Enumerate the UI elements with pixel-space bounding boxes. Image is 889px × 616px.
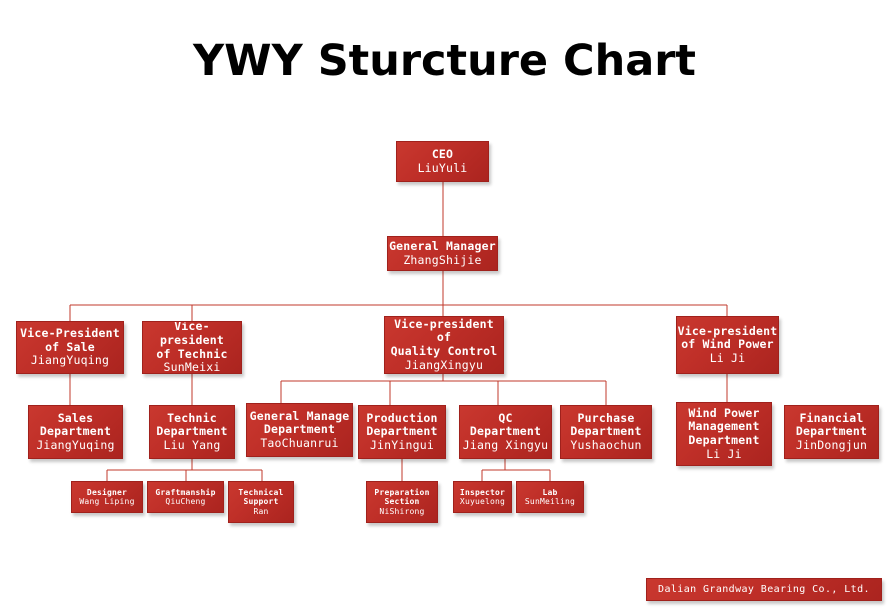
node-vp-wind-power[interactable]: Vice-president of Wind Power Li Ji <box>676 316 779 374</box>
node-lab-person: SunMeiling <box>525 497 575 506</box>
node-preparation-section-title-2: Section <box>384 497 419 506</box>
node-ceo-title: CEO <box>432 148 453 162</box>
node-vp-technic-person: SunMeixi <box>164 361 221 374</box>
node-sales-department-title-1: Sales <box>58 412 94 426</box>
node-technical-support-person: Ran <box>253 507 268 516</box>
node-graftmanship[interactable]: Graftmanship QiuCheng <box>147 481 224 513</box>
node-financial-department-title-1: Financial <box>799 412 863 426</box>
node-wind-power-management-department[interactable]: Wind Power Management Department Li Ji <box>676 402 772 466</box>
node-vp-technic-title-2: of Technic <box>156 348 227 362</box>
node-purchase-department-person: Yushaochun <box>570 439 641 453</box>
node-production-department-person: JinYingui <box>370 439 434 453</box>
node-general-manage-department-title-1: General Manage <box>250 410 350 424</box>
node-vp-technic-title-1: Vice-president <box>143 321 241 348</box>
node-vp-quality-control-title-1: Vice-president of <box>385 318 503 345</box>
node-technical-support-title-2: Support <box>243 497 278 506</box>
node-technic-department-title-1: Technic <box>167 412 217 426</box>
node-financial-department[interactable]: Financial Department JinDongjun <box>784 405 879 459</box>
node-preparation-section[interactable]: Preparation Section NiShirong <box>366 481 438 523</box>
node-graftmanship-person: QiuCheng <box>165 497 205 506</box>
company-footer-banner: Dalian Grandway Bearing Co., Ltd. <box>646 578 882 601</box>
org-chart-canvas: YWY Sturcture Chart <box>0 0 889 616</box>
node-sales-department-title-2: Department <box>40 425 111 439</box>
node-production-department-title-2: Department <box>366 425 437 439</box>
company-footer-label: Dalian Grandway Bearing Co., Ltd. <box>658 584 870 595</box>
node-vp-quality-control[interactable]: Vice-president of Quality Control JiangX… <box>384 316 504 374</box>
node-technic-department-person: Liu Yang <box>164 439 221 453</box>
node-ceo-person: LiuYuli <box>418 162 468 176</box>
node-wind-power-management-department-title-2: Management <box>688 420 759 434</box>
node-vp-quality-control-person: JiangXingyu <box>405 359 483 373</box>
node-qc-department-title-1: QC <box>498 412 512 426</box>
node-vp-quality-control-title-2: Quality Control <box>391 345 498 359</box>
node-qc-department-title-2: Department <box>470 425 541 439</box>
node-qc-department[interactable]: QC Department Jiang Xingyu <box>459 405 552 459</box>
node-qc-department-person: Jiang Xingyu <box>463 439 548 453</box>
node-purchase-department-title-1: Purchase <box>578 412 635 426</box>
node-production-department[interactable]: Production Department JinYingui <box>358 405 446 459</box>
node-general-manager-title: General Manager <box>389 240 496 254</box>
node-lab-title: Lab <box>542 488 557 497</box>
node-technical-support[interactable]: Technical Support Ran <box>228 481 294 523</box>
node-vp-wind-power-person: Li Ji <box>710 352 746 366</box>
node-vp-technic[interactable]: Vice-president of Technic SunMeixi <box>142 321 242 374</box>
node-graftmanship-title: Graftmanship <box>155 488 215 497</box>
node-purchase-department-title-2: Department <box>570 425 641 439</box>
node-ceo[interactable]: CEO LiuYuli <box>396 141 489 182</box>
node-purchase-department[interactable]: Purchase Department Yushaochun <box>560 405 652 459</box>
page-title: YWY Sturcture Chart <box>0 36 889 86</box>
node-inspector-person: Xuyuelong <box>460 497 505 506</box>
node-wind-power-management-department-person: Li Ji <box>706 448 742 462</box>
node-production-department-title-1: Production <box>366 412 437 426</box>
node-designer-title: Designer <box>87 488 127 497</box>
node-wind-power-management-department-title-1: Wind Power <box>688 407 759 421</box>
node-preparation-section-title-1: Preparation <box>374 488 429 497</box>
node-preparation-section-person: NiShirong <box>379 507 424 516</box>
node-general-manage-department[interactable]: General Manage Department TaoChuanrui <box>246 403 353 457</box>
node-designer-person: Wang Liping <box>79 497 134 506</box>
node-general-manager-person: ZhangShijie <box>403 254 481 268</box>
node-inspector[interactable]: Inspector Xuyuelong <box>453 481 512 513</box>
node-technic-department[interactable]: Technic Department Liu Yang <box>149 405 235 459</box>
node-vp-sale-person: JiangYuqing <box>31 354 109 368</box>
node-sales-department[interactable]: Sales Department JiangYuqing <box>28 405 123 459</box>
node-technical-support-title-1: Technical <box>238 488 283 497</box>
node-general-manage-department-person: TaoChuanrui <box>260 437 338 451</box>
node-wind-power-management-department-title-3: Department <box>688 434 759 448</box>
node-general-manage-department-title-2: Department <box>264 423 335 437</box>
node-lab[interactable]: Lab SunMeiling <box>516 481 584 513</box>
node-vp-sale-title-2: of Sale <box>45 341 95 355</box>
node-general-manager[interactable]: General Manager ZhangShijie <box>387 236 498 271</box>
node-vp-sale[interactable]: Vice-President of Sale JiangYuqing <box>16 321 124 374</box>
node-financial-department-person: JinDongjun <box>796 439 867 453</box>
node-sales-department-person: JiangYuqing <box>36 439 114 453</box>
node-financial-department-title-2: Department <box>796 425 867 439</box>
node-designer[interactable]: Designer Wang Liping <box>71 481 143 513</box>
node-inspector-title: Inspector <box>460 488 505 497</box>
node-technic-department-title-2: Department <box>156 425 227 439</box>
node-vp-wind-power-title-2: of Wind Power <box>681 338 774 352</box>
node-vp-wind-power-title-1: Vice-president <box>678 325 778 339</box>
node-vp-sale-title-1: Vice-President <box>20 327 120 341</box>
connector-lines <box>0 0 889 616</box>
